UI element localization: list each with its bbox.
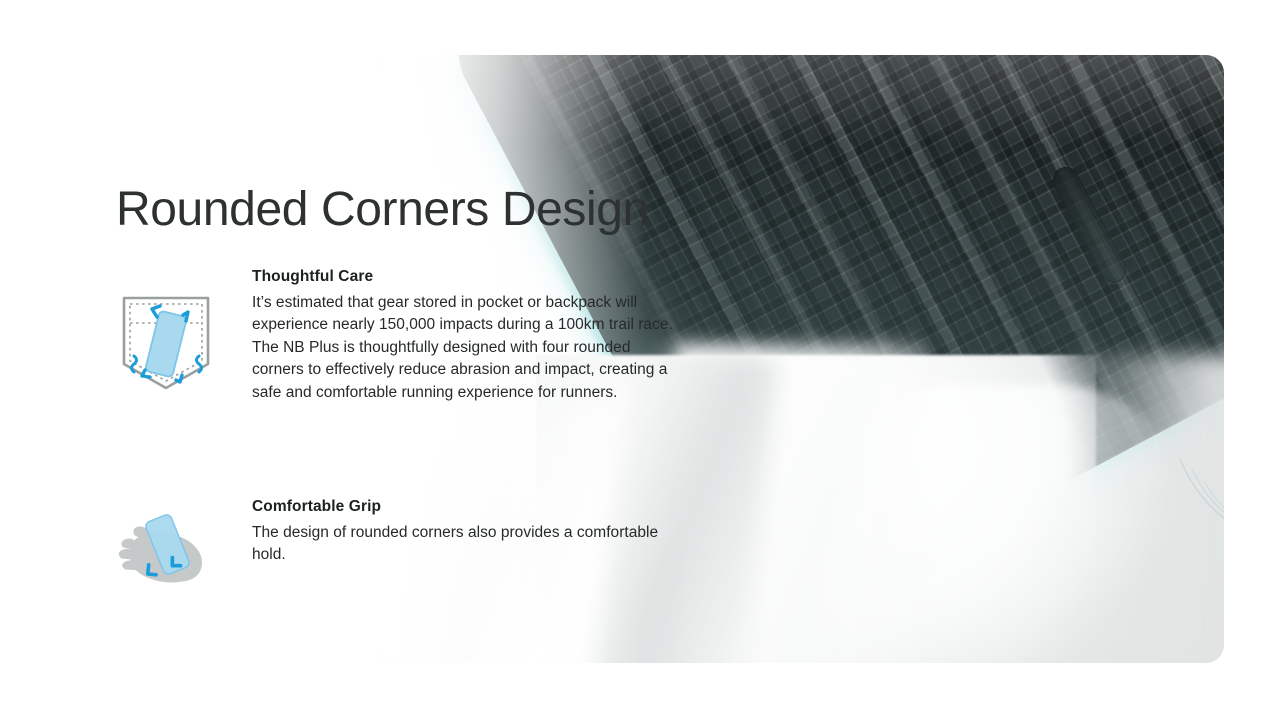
feature-text-wrapper: Thoughtful Care It’s estimated that gear… bbox=[252, 268, 686, 404]
hand-holding-phone-icon bbox=[116, 503, 216, 603]
feature-block-thoughtful-care: Thoughtful Care It’s estimated that gear… bbox=[116, 268, 686, 404]
feature-body: The design of rounded corners also provi… bbox=[252, 522, 686, 567]
feature-text-wrapper: Comfortable Grip The design of rounded c… bbox=[252, 498, 686, 567]
feature-heading: Comfortable Grip bbox=[252, 498, 686, 516]
feature-block-comfortable-grip: Comfortable Grip The design of rounded c… bbox=[116, 498, 686, 567]
pocket-phone-impact-icon bbox=[116, 292, 216, 392]
page-title: Rounded Corners Design bbox=[116, 182, 649, 237]
feature-body: It’s estimated that gear stored in pocke… bbox=[252, 292, 686, 404]
slide-root: Rounded Corners Design bbox=[0, 0, 1280, 720]
feature-heading: Thoughtful Care bbox=[252, 268, 686, 286]
